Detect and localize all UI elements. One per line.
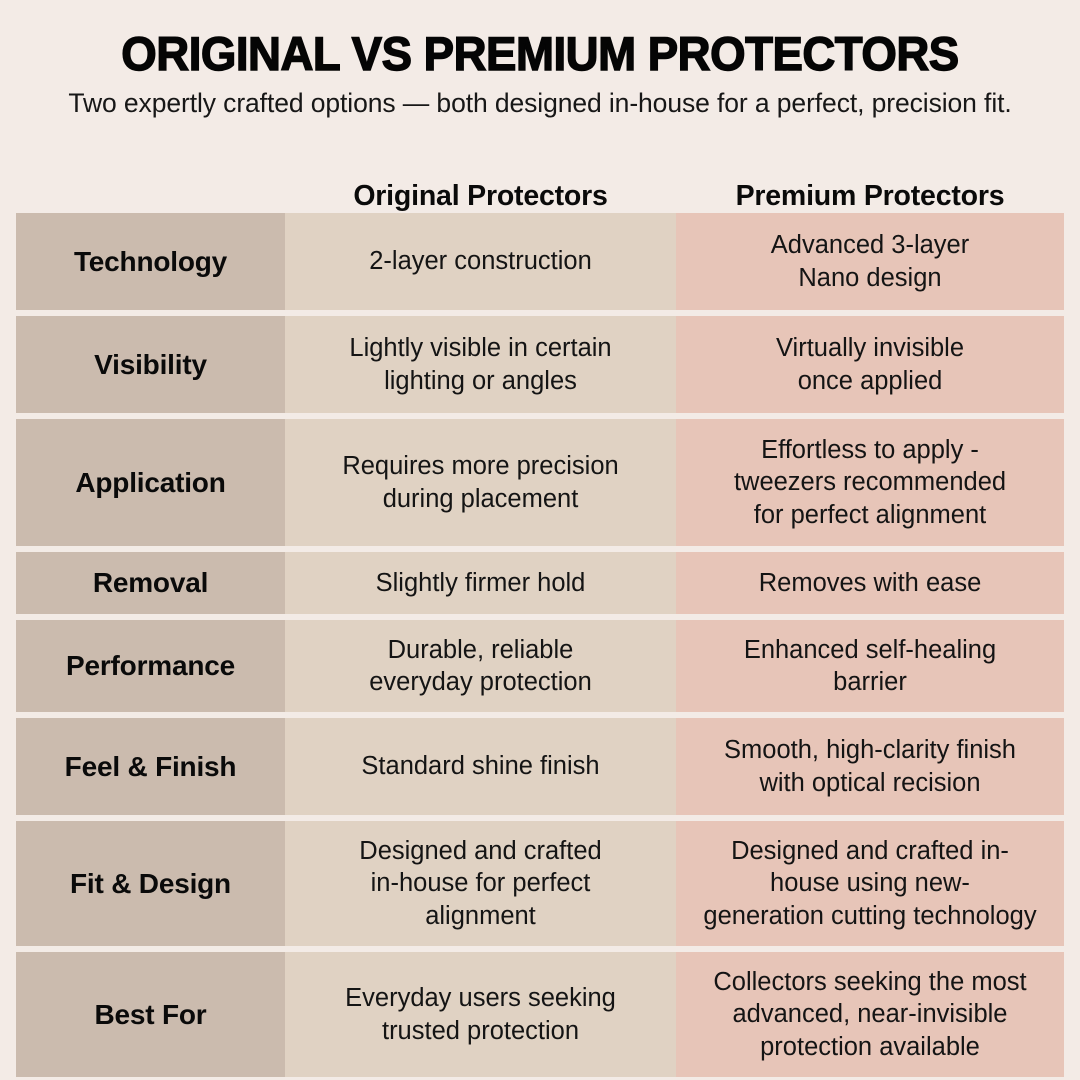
column-header-premium: Premium Protectors	[676, 182, 1064, 211]
row-original-value: Designed and craftedin-house for perfect…	[285, 821, 676, 946]
row-premium-value-text: Designed and crafted in-house using new-…	[703, 835, 1036, 931]
header-block: ORIGINAL VS PREMIUM PROTECTORS Two exper…	[0, 0, 1080, 119]
row-original-value: Everyday users seekingtrusted protection	[285, 952, 676, 1077]
row-feature-label-text: Application	[75, 467, 225, 499]
row-premium-value-text: Removes with ease	[759, 567, 982, 599]
row-premium-value: Advanced 3-layerNano design	[676, 213, 1064, 310]
row-feature-label-text: Performance	[66, 650, 235, 682]
table-row: Feel & FinishStandard shine finishSmooth…	[16, 718, 1064, 815]
row-premium-value: Collectors seeking the mostadvanced, nea…	[676, 952, 1064, 1077]
comparison-table: Technology2-layer constructionAdvanced 3…	[16, 213, 1064, 1077]
row-premium-value-text: Advanced 3-layerNano design	[771, 229, 969, 293]
comparison-infographic: ORIGINAL VS PREMIUM PROTECTORS Two exper…	[0, 0, 1080, 1080]
row-premium-value: Effortless to apply -tweezers recommende…	[676, 419, 1064, 546]
row-feature-label: Fit & Design	[16, 821, 285, 946]
row-premium-value-text: Effortless to apply -tweezers recommende…	[734, 434, 1006, 530]
row-premium-value-text: Smooth, high-clarity finishwith optical …	[724, 734, 1016, 798]
row-premium-value: Virtually invisibleonce applied	[676, 316, 1064, 413]
row-premium-value: Removes with ease	[676, 552, 1064, 614]
row-feature-label: Removal	[16, 552, 285, 614]
row-original-value-text: Designed and craftedin-house for perfect…	[359, 835, 601, 931]
row-original-value: Standard shine finish	[285, 718, 676, 815]
table-row: Best ForEveryday users seekingtrusted pr…	[16, 952, 1064, 1077]
row-original-value: Slightly firmer hold	[285, 552, 676, 614]
row-premium-value-text: Collectors seeking the mostadvanced, nea…	[713, 966, 1026, 1062]
row-feature-label: Visibility	[16, 316, 285, 413]
row-feature-label-text: Visibility	[94, 349, 207, 381]
row-premium-value-text: Virtually invisibleonce applied	[776, 332, 964, 396]
row-feature-label: Technology	[16, 213, 285, 310]
row-feature-label: Feel & Finish	[16, 718, 285, 815]
table-row: ApplicationRequires more precisionduring…	[16, 419, 1064, 546]
page-title: ORIGINAL VS PREMIUM PROTECTORS	[39, 30, 1040, 77]
row-original-value-text: Requires more precisionduring placement	[342, 450, 618, 514]
row-original-value: Durable, reliableeveryday protection	[285, 620, 676, 712]
row-feature-label-text: Removal	[93, 567, 208, 599]
table-row: VisibilityLightly visible in certainligh…	[16, 316, 1064, 413]
table-row: RemovalSlightly firmer holdRemoves with …	[16, 552, 1064, 614]
row-premium-value: Enhanced self-healingbarrier	[676, 620, 1064, 712]
row-original-value-text: Lightly visible in certainlighting or an…	[349, 332, 611, 396]
row-feature-label-text: Feel & Finish	[65, 751, 237, 783]
row-original-value-text: 2-layer construction	[369, 245, 592, 277]
row-premium-value-text: Enhanced self-healingbarrier	[744, 634, 996, 698]
row-premium-value: Smooth, high-clarity finishwith optical …	[676, 718, 1064, 815]
table-row: PerformanceDurable, reliableeveryday pro…	[16, 620, 1064, 712]
table-row: Technology2-layer constructionAdvanced 3…	[16, 213, 1064, 310]
row-feature-label-text: Best For	[95, 999, 207, 1031]
column-headers: Original Protectors Premium Protectors	[16, 166, 1064, 210]
row-original-value-text: Slightly firmer hold	[376, 567, 586, 599]
row-original-value: Lightly visible in certainlighting or an…	[285, 316, 676, 413]
row-feature-label-text: Technology	[74, 246, 227, 278]
row-original-value-text: Everyday users seekingtrusted protection	[345, 982, 616, 1046]
table-row: Fit & DesignDesigned and craftedin-house…	[16, 821, 1064, 946]
row-feature-label: Performance	[16, 620, 285, 712]
column-header-original: Original Protectors	[285, 182, 676, 211]
row-premium-value: Designed and crafted in-house using new-…	[676, 821, 1064, 946]
row-original-value: Requires more precisionduring placement	[285, 419, 676, 546]
row-feature-label-text: Fit & Design	[70, 868, 231, 900]
row-feature-label: Best For	[16, 952, 285, 1077]
row-original-value-text: Standard shine finish	[361, 750, 599, 782]
page-subtitle: Two expertly crafted options — both desi…	[60, 87, 1020, 119]
row-original-value-text: Durable, reliableeveryday protection	[369, 634, 592, 698]
row-original-value: 2-layer construction	[285, 213, 676, 310]
row-feature-label: Application	[16, 419, 285, 546]
